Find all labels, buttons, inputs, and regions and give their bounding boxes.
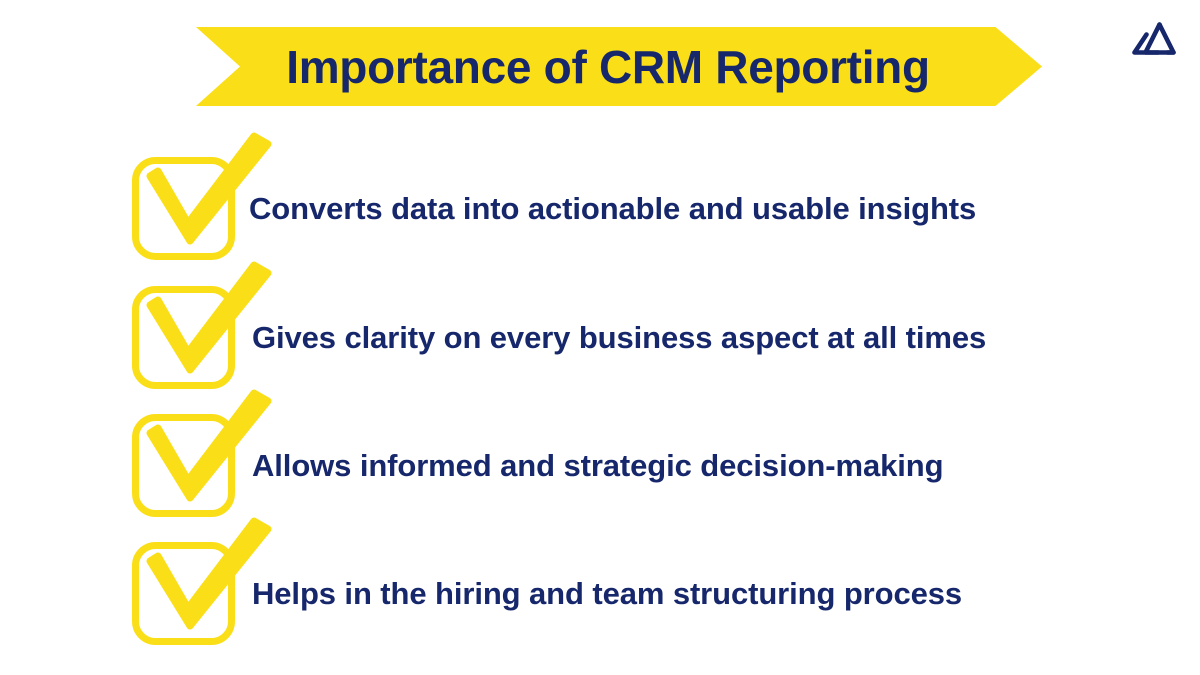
checklist: Converts data into actionable and usable… bbox=[0, 0, 1200, 675]
list-item-label: Allows informed and strategic decision-m… bbox=[252, 414, 943, 518]
list-item[interactable]: Gives clarity on every business aspect a… bbox=[128, 286, 1168, 390]
list-item-label: Gives clarity on every business aspect a… bbox=[252, 286, 986, 390]
list-item-label: Converts data into actionable and usable… bbox=[249, 157, 976, 261]
list-item[interactable]: Converts data into actionable and usable… bbox=[128, 157, 1168, 261]
slide-canvas: Importance of CRM Reporting Converts dat… bbox=[0, 0, 1200, 675]
list-item[interactable]: Helps in the hiring and team structuring… bbox=[128, 542, 1168, 646]
list-item-label: Helps in the hiring and team structuring… bbox=[252, 542, 962, 646]
list-item[interactable]: Allows informed and strategic decision-m… bbox=[128, 414, 1168, 518]
